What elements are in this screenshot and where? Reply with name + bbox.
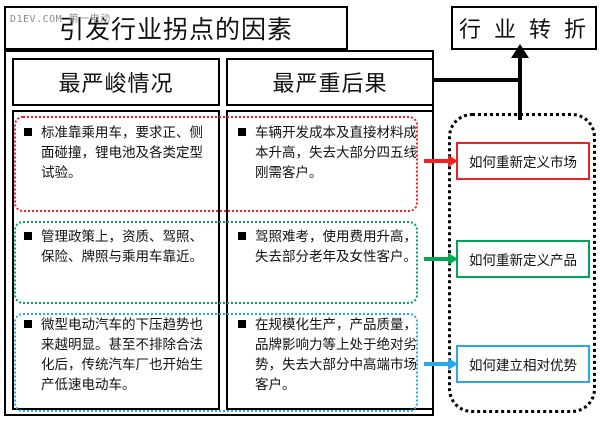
list-item-text: 管理政策上，资质、驾照、保险、牌照与乘用车靠近。 bbox=[41, 220, 218, 267]
bullet-square-icon bbox=[238, 320, 246, 328]
bullet-square-icon bbox=[24, 232, 32, 240]
column-header-left: 最严峻情况 bbox=[12, 58, 220, 106]
list-item-text: 微型电动汽车的下压趋势也来越明显。甚至不排除合法化后，传统汽车厂也开始生产低速电… bbox=[41, 308, 218, 395]
list-item-text: 车辆开发成本及直接材料成本升高，失去大部分四五线刚需客户。 bbox=[255, 116, 432, 183]
column-header-left-label: 最严峻情况 bbox=[58, 66, 173, 98]
outcome-label: 行 业 转 折 bbox=[459, 12, 589, 44]
column-body-left: 标准靠乘用车，要求正、侧面碰撞，锂电池及各类定型试验。 管理政策上，资质、驾照、… bbox=[12, 110, 220, 410]
connector-arrowhead-up-icon bbox=[511, 44, 529, 58]
arrow-shaft bbox=[424, 362, 450, 366]
list-item-text: 标准靠乘用车，要求正、侧面碰撞，锂电池及各类定型试验。 bbox=[41, 116, 218, 183]
list-item: 车辆开发成本及直接材料成本升高，失去大部分四五线刚需客户。 bbox=[228, 116, 432, 214]
list-item-text: 驾照难考，使用费用升高，失去部分老年及女性客户。 bbox=[255, 220, 432, 267]
question-box-redefine-market: 如何重新定义市场 bbox=[456, 142, 590, 180]
list-item: 管理政策上，资质、驾照、保险、牌照与乘用车靠近。 bbox=[14, 220, 218, 304]
column-severe-consequence: 最严重后果 车辆开发成本及直接材料成本升高，失去大部分四五线刚需客户。 驾照难考… bbox=[226, 58, 434, 410]
question-label: 如何重新定义产品 bbox=[469, 249, 577, 269]
question-box-redefine-product: 如何重新定义产品 bbox=[456, 240, 590, 278]
main-frame: 最严峻情况 标准靠乘用车，要求正、侧面碰撞，锂电池及各类定型试验。 管理政策上，… bbox=[4, 50, 434, 416]
bullet-square-icon bbox=[238, 232, 246, 240]
column-header-right: 最严重后果 bbox=[226, 58, 434, 106]
bullet-square-icon bbox=[24, 320, 32, 328]
bullet-square-icon bbox=[238, 128, 246, 136]
arrow-shaft bbox=[424, 159, 450, 163]
column-severe-situation: 最严峻情况 标准靠乘用车，要求正、侧面碰撞，锂电池及各类定型试验。 管理政策上，… bbox=[12, 58, 220, 410]
connector-horizontal bbox=[434, 78, 520, 82]
list-item: 微型电动汽车的下压趋势也来越明显。甚至不排除合法化后，传统汽车厂也开始生产低速电… bbox=[14, 308, 218, 408]
column-body-right: 车辆开发成本及直接材料成本升高，失去大部分四五线刚需客户。 驾照难考，使用费用升… bbox=[226, 110, 434, 410]
diagram-canvas: D1EV.COM 第一电动 引发行业拐点的因素 行 业 转 折 最严峻情况 标准… bbox=[0, 0, 600, 422]
list-item: 驾照难考，使用费用升高，失去部分老年及女性客户。 bbox=[228, 220, 432, 304]
column-header-right-label: 最严重后果 bbox=[272, 66, 387, 98]
question-label: 如何重新定义市场 bbox=[469, 151, 577, 171]
list-item: 标准靠乘用车，要求正、侧面碰撞，锂电池及各类定型试验。 bbox=[14, 116, 218, 214]
list-item-text: 在规模化生产，产品质量，品牌影响力等上处于绝对劣势，失去大部分中高端市场客户。 bbox=[255, 308, 432, 395]
bullet-square-icon bbox=[24, 128, 32, 136]
arrow-shaft bbox=[424, 257, 450, 261]
question-label: 如何建立相对优势 bbox=[469, 354, 577, 374]
question-box-build-advantage: 如何建立相对优势 bbox=[456, 345, 590, 383]
list-item: 在规模化生产，产品质量，品牌影响力等上处于绝对劣势，失去大部分中高端市场客户。 bbox=[228, 308, 432, 408]
connector-vertical-upper bbox=[518, 56, 522, 82]
watermark-label: D1EV.COM 第一电动 bbox=[10, 10, 111, 25]
